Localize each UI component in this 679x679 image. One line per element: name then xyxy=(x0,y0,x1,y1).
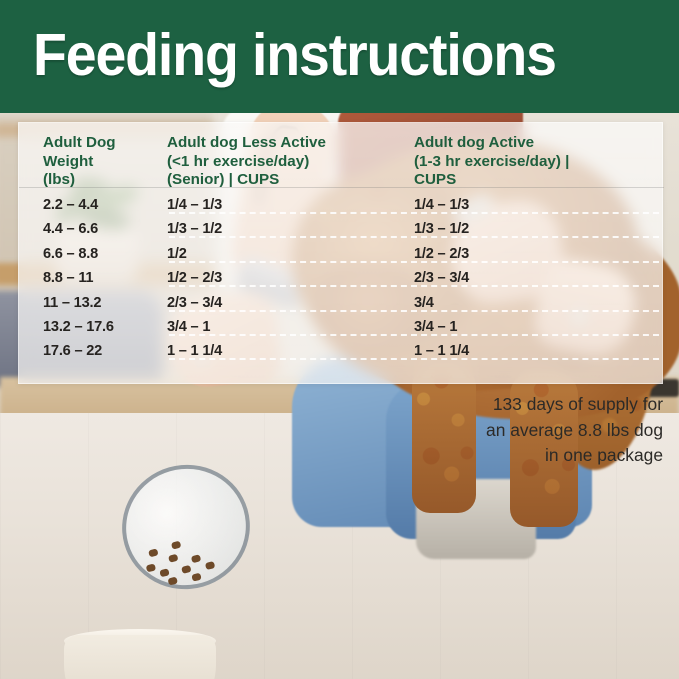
row-separator xyxy=(169,358,659,360)
supply-note-line-3: in one package xyxy=(420,443,663,469)
column-header-active: Adult dog Active (1-3 hr exercise/day) |… xyxy=(414,134,654,190)
row-separator xyxy=(169,310,659,312)
row-separator xyxy=(169,334,659,336)
column-header-less-active: Adult dog Less Active (<1 hr exercise/da… xyxy=(167,134,407,190)
table-row: 17.6 – 22 1 – 1 1/4 1 – 1 1/4 xyxy=(19,339,664,363)
supply-note-line-1: 133 days of supply for xyxy=(420,392,663,418)
table-row: 11 – 13.2 2/3 – 3/4 3/4 xyxy=(19,291,664,315)
table-row: 13.2 – 17.6 3/4 – 1 3/4 – 1 xyxy=(19,315,664,339)
cell-weight: 13.2 – 17.6 xyxy=(43,315,114,339)
cell-weight: 8.8 – 11 xyxy=(43,266,93,290)
cell-weight: 2.2 – 4.4 xyxy=(43,193,98,217)
table-header-row: Adult Dog Weight (lbs) Adult dog Less Ac… xyxy=(19,123,664,187)
feeding-chart-panel: Adult Dog Weight (lbs) Adult dog Less Ac… xyxy=(18,122,663,384)
header-band: Feeding instructions xyxy=(0,0,679,113)
cell-weight: 17.6 – 22 xyxy=(43,339,102,363)
row-separator xyxy=(169,236,659,238)
supply-note-line-2: an average 8.8 lbs dog xyxy=(420,418,663,444)
table-row: 2.2 – 4.4 1/4 – 1/3 1/4 – 1/3 xyxy=(19,193,664,217)
supply-note: 133 days of supply for an average 8.8 lb… xyxy=(420,392,663,469)
food-bowl xyxy=(64,635,216,679)
table-row: 8.8 – 11 1/2 – 2/3 2/3 – 3/4 xyxy=(19,266,664,290)
cell-weight: 6.6 – 8.8 xyxy=(43,242,98,266)
column-header-weight: Adult Dog Weight (lbs) xyxy=(43,134,163,190)
row-separator xyxy=(169,285,659,287)
table-row: 6.6 – 8.8 1/2 1/2 – 2/3 xyxy=(19,242,664,266)
table-body: 2.2 – 4.4 1/4 – 1/3 1/4 – 1/3 4.4 – 6.6 … xyxy=(19,193,664,364)
feeding-instructions-infographic: Feeding instructions Adult Dog Weight (l… xyxy=(0,0,679,679)
table-row: 4.4 – 6.6 1/3 – 1/2 1/3 – 1/2 xyxy=(19,217,664,241)
cell-weight: 11 – 13.2 xyxy=(43,291,101,315)
header-divider xyxy=(19,187,664,188)
row-separator xyxy=(169,212,659,214)
row-separator xyxy=(169,261,659,263)
cell-weight: 4.4 – 6.6 xyxy=(43,217,98,241)
page-title: Feeding instructions xyxy=(33,17,556,93)
